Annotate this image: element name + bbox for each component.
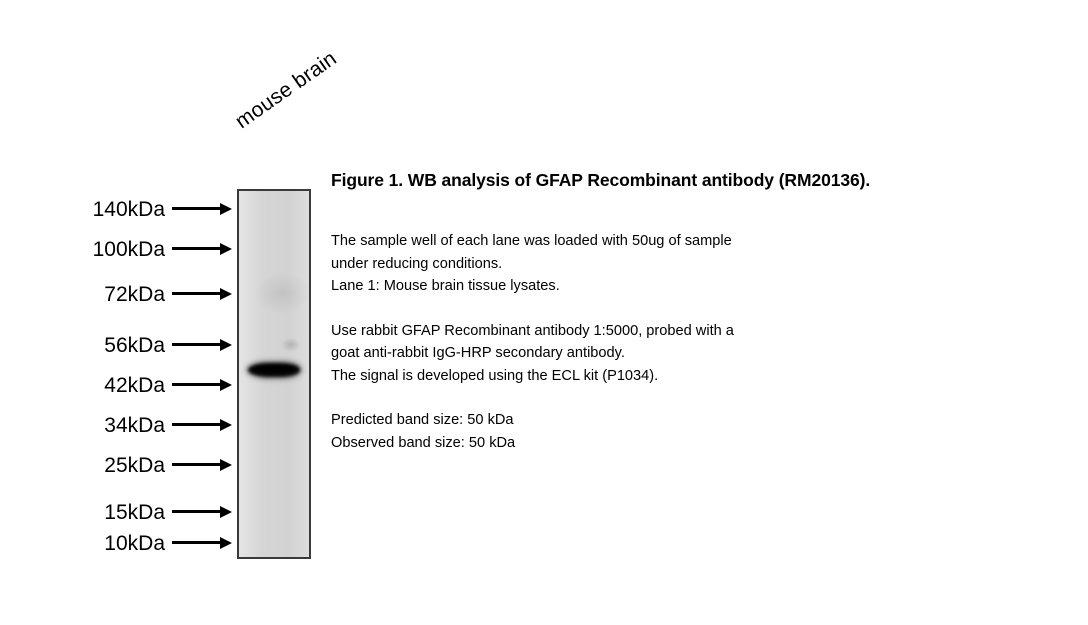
figure-title: Figure 1. WB analysis of GFAP Recombinan… — [331, 170, 1083, 191]
caption-line: Use rabbit GFAP Recombinant antibody 1:5… — [331, 320, 1083, 343]
marker-10kda: 10kDa — [0, 530, 234, 556]
figure-caption: Figure 1. WB analysis of GFAP Recombinan… — [331, 170, 1083, 454]
marker-34kda: 34kDa — [0, 412, 234, 438]
marker-15kda: 15kDa — [0, 499, 234, 525]
marker-100kda: 100kDa — [0, 236, 234, 262]
predicted-band-size: Predicted band size: 50 kDa — [331, 409, 1083, 432]
marker-label: 42kDa — [104, 375, 165, 396]
arrow-right-icon — [172, 338, 234, 352]
caption-line: goat anti-rabbit IgG-HRP secondary antib… — [331, 342, 1083, 365]
protein-band-50kda — [248, 363, 300, 377]
marker-72kda: 72kDa — [0, 281, 234, 307]
marker-140kda: 140kDa — [0, 196, 234, 222]
marker-label: 140kDa — [93, 199, 165, 220]
arrow-right-icon — [172, 536, 234, 550]
arrow-right-icon — [172, 242, 234, 256]
gel-lane-1 — [237, 189, 311, 559]
marker-label: 34kDa — [104, 415, 165, 436]
arrow-right-icon — [172, 505, 234, 519]
caption-line: The sample well of each lane was loaded … — [331, 230, 1083, 253]
marker-56kda: 56kDa — [0, 332, 234, 358]
arrow-right-icon — [172, 287, 234, 301]
marker-label: 15kDa — [104, 502, 165, 523]
marker-label: 25kDa — [104, 455, 165, 476]
marker-42kda: 42kDa — [0, 372, 234, 398]
marker-label: 56kDa — [104, 335, 165, 356]
caption-methods: The sample well of each lane was loaded … — [331, 230, 1083, 298]
arrow-right-icon — [172, 378, 234, 392]
marker-label: 10kDa — [104, 533, 165, 554]
observed-band-size: Observed band size: 50 kDa — [331, 432, 1083, 455]
arrow-right-icon — [172, 202, 234, 216]
caption-protocol: Use rabbit GFAP Recombinant antibody 1:5… — [331, 320, 1083, 388]
arrow-right-icon — [172, 418, 234, 432]
lane-header-label: mouse brain — [231, 47, 341, 134]
arrow-right-icon — [172, 458, 234, 472]
caption-line: under reducing conditions. — [331, 253, 1083, 276]
caption-line: Lane 1: Mouse brain tissue lysates. — [331, 275, 1083, 298]
marker-label: 100kDa — [93, 239, 165, 260]
caption-line: The signal is developed using the ECL ki… — [331, 365, 1083, 388]
western-blot-figure: mouse brain 140kDa 100kDa 72kDa 56kDa 42… — [0, 0, 1088, 625]
caption-band-sizes: Predicted band size: 50 kDa Observed ban… — [331, 409, 1083, 454]
marker-25kda: 25kDa — [0, 452, 234, 478]
marker-label: 72kDa — [104, 284, 165, 305]
